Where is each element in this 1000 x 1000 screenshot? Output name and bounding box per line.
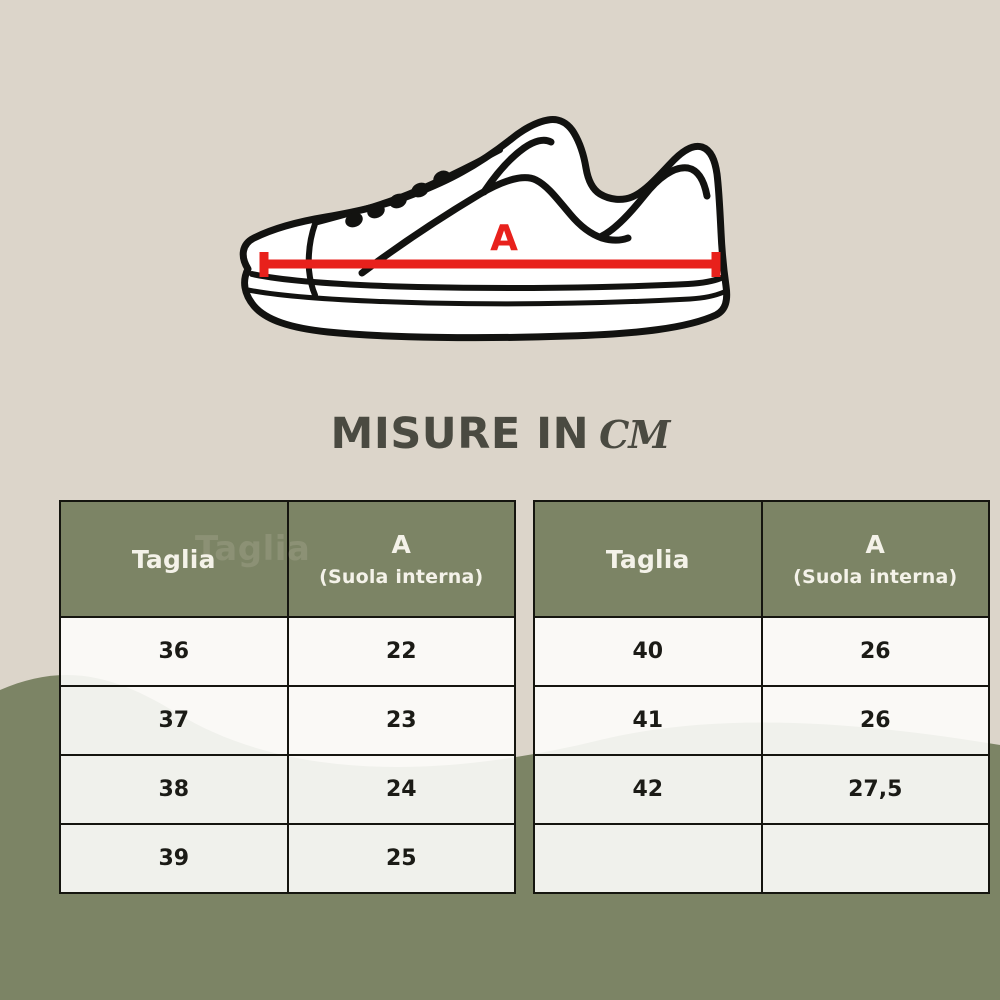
header-measure-sublabel: (Suola interna) [289,566,515,588]
cell-size: 36 [60,617,288,686]
cell-measure: 22 [288,617,516,686]
cell-size [534,824,762,893]
page-title-unit: CM [599,412,669,457]
header-cell-size: Taglia [534,501,762,617]
header-size-label: Taglia [61,545,287,574]
table-header-row: Taglia A (Suola interna) [60,501,515,617]
cell-measure: 24 [288,755,516,824]
cell-size: 41 [534,686,762,755]
table-row: 38 24 [60,755,515,824]
table-row: 39 25 [60,824,515,893]
cell-size: 40 [534,617,762,686]
cell-measure: 26 [762,617,990,686]
cell-size: 39 [60,824,288,893]
page-title: MISURE INCM [0,409,1000,459]
size-table-left: Taglia A (Suola interna) 36 22 37 23 38 … [59,500,516,894]
cell-measure: 27,5 [762,755,990,824]
header-cell-measure: A (Suola interna) [762,501,990,617]
table-row: 37 23 [60,686,515,755]
cell-measure: 25 [288,824,516,893]
page-title-main: MISURE IN [331,409,590,459]
table-row-empty [534,824,989,893]
header-cell-measure: A (Suola interna) [288,501,516,617]
shoe-body [243,120,726,338]
size-chart-page: A MISURE INCM Taglia Taglia A (Suola int… [0,0,1000,1000]
table-row: 40 26 [534,617,989,686]
header-measure-label: A [763,530,989,559]
size-table-right: Taglia A (Suola interna) 40 26 41 26 42 … [533,500,990,894]
header-size-label: Taglia [535,545,761,574]
cell-measure: 26 [762,686,990,755]
cell-size: 38 [60,755,288,824]
table-row: 42 27,5 [534,755,989,824]
cell-measure: 23 [288,686,516,755]
header-measure-sublabel: (Suola interna) [763,566,989,588]
sneaker-illustration: A [218,104,766,354]
header-cell-size: Taglia [60,501,288,617]
table-row: 36 22 [60,617,515,686]
table-header-row: Taglia A (Suola interna) [534,501,989,617]
header-measure-label: A [289,530,515,559]
measure-label-a: A [490,218,518,259]
cell-size: 37 [60,686,288,755]
cell-size: 42 [534,755,762,824]
cell-measure [762,824,990,893]
table-row: 41 26 [534,686,989,755]
